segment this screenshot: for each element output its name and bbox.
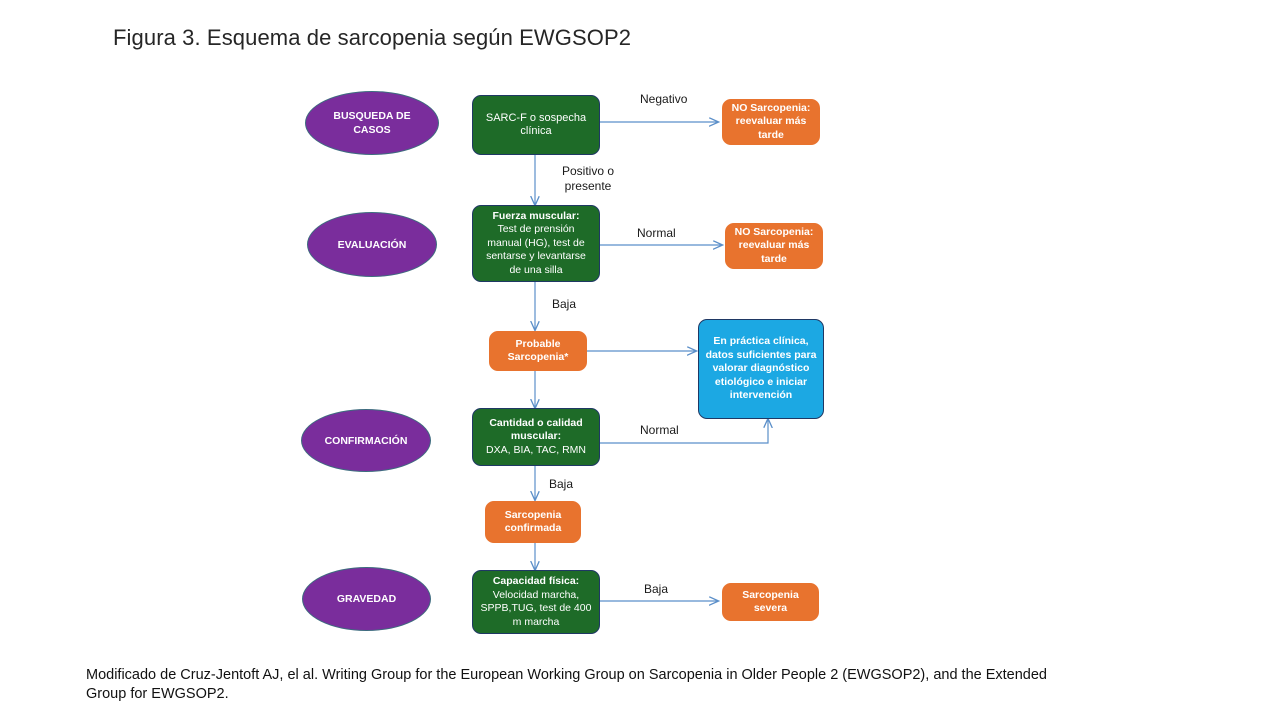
node-no-sarcopenia-2-text: NO Sarcopenia: reevaluar más tarde [732, 226, 816, 267]
edge-label-normal-1: Normal [637, 226, 676, 241]
node-fuerza-muscular-heading: Fuerza muscular: [479, 210, 593, 224]
stage-ellipse-evaluacion[interactable]: EVALUACIÓN [307, 212, 437, 277]
node-fuerza-muscular[interactable]: Fuerza muscular: Test de prensión manual… [472, 205, 600, 282]
node-practica-clinica[interactable]: En práctica clínica, datos suficientes p… [698, 319, 824, 419]
stage-label: CONFIRMACIÓN [325, 434, 408, 448]
edge-label-positivo-o-presente: Positivo o presente [551, 164, 625, 194]
connector-layer [0, 0, 1280, 720]
node-fuerza-muscular-body: Test de prensión manual (HG), test de se… [479, 223, 593, 277]
node-capacidad-fisica[interactable]: Capacidad física: Velocidad marcha, SPPB… [472, 570, 600, 634]
node-probable-sarcopenia[interactable]: Probable Sarcopenia* [489, 331, 587, 371]
node-no-sarcopenia-2[interactable]: NO Sarcopenia: reevaluar más tarde [725, 223, 823, 269]
node-sarcopenia-severa-text: Sarcopenia severa [729, 589, 812, 616]
node-no-sarcopenia-1-text: NO Sarcopenia: reevaluar más tarde [729, 102, 813, 143]
node-sarcopenia-severa[interactable]: Sarcopenia severa [722, 583, 819, 621]
node-no-sarcopenia-1[interactable]: NO Sarcopenia: reevaluar más tarde [722, 99, 820, 145]
edge-label-baja-2: Baja [549, 477, 573, 492]
stage-ellipse-confirmacion[interactable]: CONFIRMACIÓN [301, 409, 431, 472]
stage-ellipse-busqueda-de-casos[interactable]: BUSQUEDA DE CASOS [305, 91, 439, 155]
node-cantidad-body: DXA, BIA, TAC, RMN [479, 444, 593, 458]
node-cantidad-calidad-muscular[interactable]: Cantidad o calidad muscular: DXA, BIA, T… [472, 408, 600, 466]
stage-ellipse-gravedad[interactable]: GRAVEDAD [302, 567, 431, 631]
node-capacidad-body: Velocidad marcha, SPPB,TUG, test de 400 … [479, 589, 593, 630]
node-sarc-f[interactable]: SARC-F o sospecha clínica [472, 95, 600, 155]
edge-label-baja-1: Baja [552, 297, 576, 312]
stage-label: BUSQUEDA DE CASOS [316, 109, 428, 137]
node-sarc-f-text: SARC-F o sospecha clínica [479, 112, 593, 139]
stage-label: GRAVEDAD [337, 592, 396, 606]
node-sarcopenia-confirmada-text: Sarcopenia confirmada [492, 509, 574, 536]
edge-label-negativo: Negativo [640, 92, 687, 107]
node-cantidad-heading: Cantidad o calidad muscular: [479, 417, 593, 444]
node-sarcopenia-confirmada[interactable]: Sarcopenia confirmada [485, 501, 581, 543]
stage-label: EVALUACIÓN [338, 238, 407, 252]
figure-canvas: Figura 3. Esquema de sarcopenia según EW… [0, 0, 1280, 720]
figure-footnote: Modificado de Cruz-Jentoft AJ, el al. Wr… [86, 666, 1086, 704]
node-practica-clinica-text: En práctica clínica, datos suficientes p… [705, 335, 817, 403]
figure-title: Figura 3. Esquema de sarcopenia según EW… [113, 25, 631, 51]
edge-cantidad-to-practica [600, 419, 768, 443]
edge-label-normal-2: Normal [640, 423, 679, 438]
node-probable-sarcopenia-text: Probable Sarcopenia* [496, 338, 580, 365]
edge-label-baja-3: Baja [644, 582, 668, 597]
node-capacidad-heading: Capacidad física: [479, 575, 593, 589]
